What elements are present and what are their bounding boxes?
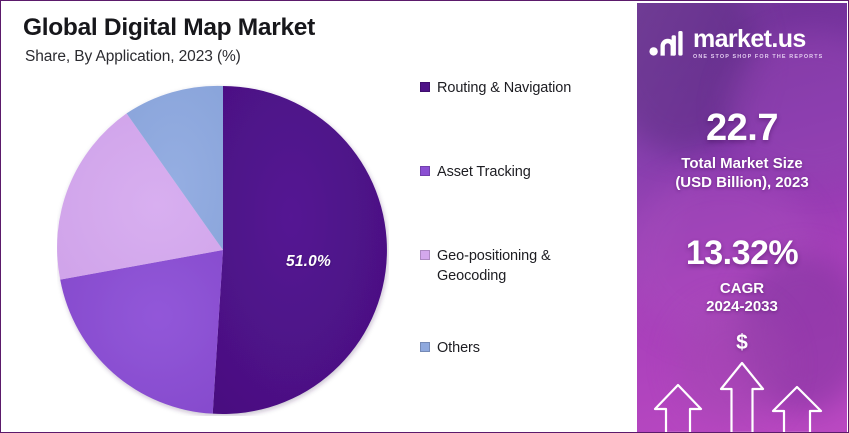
legend-item-routing-navigation[interactable]: Routing & Navigation bbox=[420, 78, 620, 98]
legend-label-asset-tracking: Asset Tracking bbox=[437, 162, 531, 182]
dollar-sign-icon: $ bbox=[637, 331, 847, 355]
logo-tagline: ONE STOP SHOP FOR THE REPORTS bbox=[693, 53, 823, 62]
legend-swatch-geo-positioning bbox=[420, 250, 430, 260]
pie-slice-routing-navigation bbox=[213, 86, 387, 414]
chart-subtitle: Share, By Application, 2023 (%) bbox=[25, 48, 241, 66]
page-title: Global Digital Map Market bbox=[23, 14, 315, 42]
market-us-logo[interactable]: market.us ONE STOP SHOP FOR THE REPORTS bbox=[649, 23, 839, 65]
market-size-caption-line1: Total Market Size bbox=[637, 154, 847, 173]
legend-label-routing-navigation: Routing & Navigation bbox=[437, 78, 571, 98]
market-size-caption-line2: (USD Billion), 2023 bbox=[637, 173, 847, 192]
market-size-value: 22.7 bbox=[637, 107, 847, 150]
pie-slice-data-label: 51.0% bbox=[286, 253, 331, 271]
chart-panel: Global Digital Map Market Share, By Appl… bbox=[1, 1, 635, 432]
legend-item-others[interactable]: Others bbox=[420, 338, 620, 358]
market-us-logo-mark-icon bbox=[649, 29, 685, 59]
pie-chart-svg bbox=[57, 84, 389, 416]
cagr-caption: CAGR bbox=[637, 279, 847, 298]
growth-arrows-icon bbox=[647, 355, 837, 432]
pie-chart bbox=[57, 84, 389, 416]
legend-swatch-asset-tracking bbox=[420, 166, 430, 176]
logo-wordmark: market.us bbox=[693, 27, 823, 52]
legend-swatch-routing-navigation bbox=[420, 82, 430, 92]
legend-label-others: Others bbox=[437, 338, 480, 358]
infographic-canvas: Global Digital Map Market Share, By Appl… bbox=[0, 0, 849, 433]
brand-stats-panel: market.us ONE STOP SHOP FOR THE REPORTS … bbox=[637, 3, 847, 432]
legend-label-geo-positioning: Geo-positioning & Geocoding bbox=[437, 246, 607, 286]
cagr-value: 13.32% bbox=[637, 234, 847, 273]
cagr-period: 2024-2033 bbox=[637, 297, 847, 316]
legend-swatch-others bbox=[420, 342, 430, 352]
legend-item-geo-positioning[interactable]: Geo-positioning & Geocoding bbox=[420, 246, 620, 286]
legend-item-asset-tracking[interactable]: Asset Tracking bbox=[420, 162, 620, 182]
